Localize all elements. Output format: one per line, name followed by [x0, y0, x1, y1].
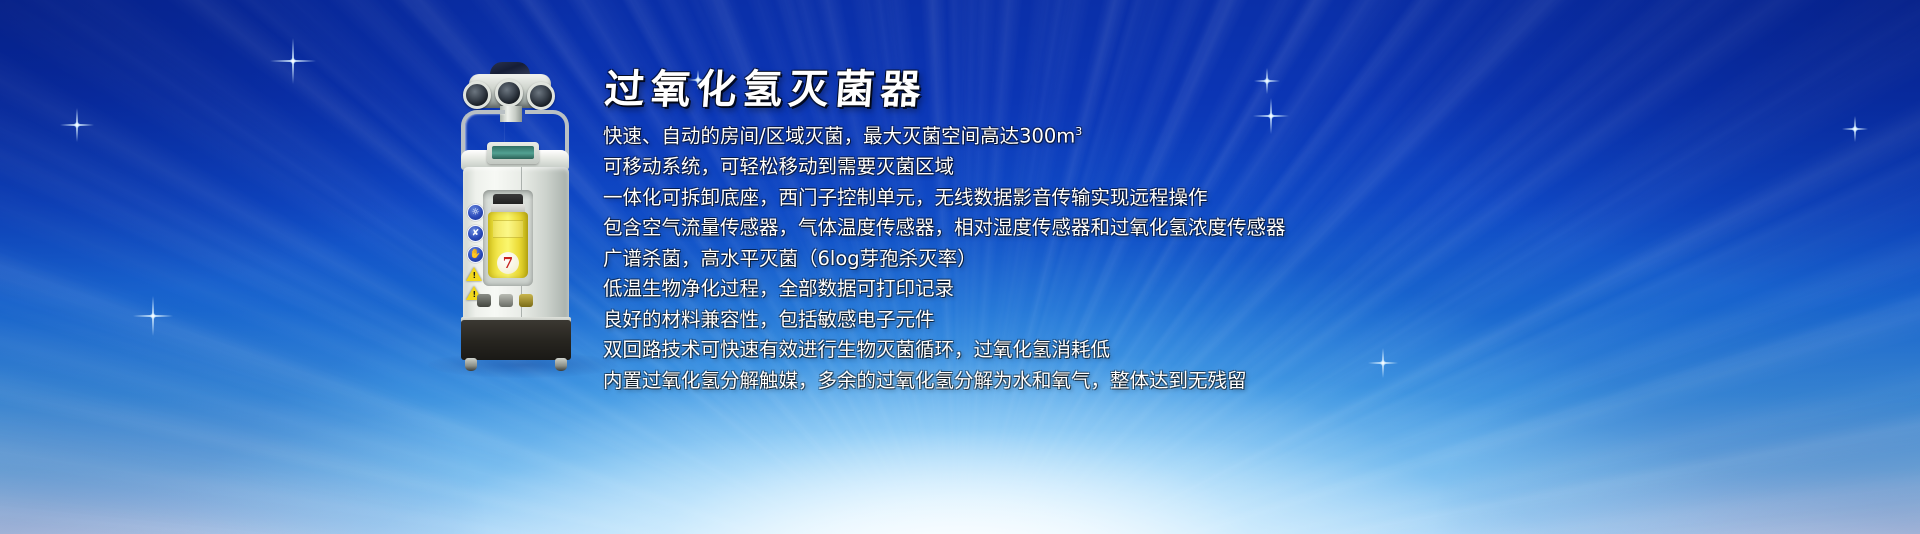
sparkle-icon — [270, 38, 316, 84]
feature-superscript: 3 — [1075, 125, 1082, 138]
goggles-warning-icon: ☼ — [467, 204, 484, 221]
no-entry-warning-icon: ✘ — [467, 225, 484, 242]
hazard-exclamation: ! — [473, 272, 476, 279]
gloves-warning-icon: ✋ — [467, 246, 484, 263]
feature-line: 低温生物净化过程，全部数据可打印记录 — [603, 279, 1883, 299]
feature-text: 广谱杀菌，高水平灭菌（6log芽孢杀灭率） — [603, 247, 977, 270]
goggles-glyph: ☼ — [468, 208, 483, 217]
feature-line: 双回路技术可快速有效进行生物灭菌循环，过氧化氢消耗低 — [603, 340, 1883, 360]
gloves-glyph: ✋ — [468, 250, 483, 259]
product-image-sterilizer: 7 ☼ ✘ ✋ ! ! — [443, 62, 603, 374]
banner-copy: 过氧化氢灭菌器 快速、自动的房间/区域灭菌，最大灭菌空间高达300m3 可移动系… — [603, 68, 1883, 401]
feature-text: 快速、自动的房间/区域灭菌，最大灭菌空间高达300m — [603, 125, 1075, 148]
feature-line: 一体化可拆卸底座，西门子控制单元，无线数据影音传输实现远程操作 — [603, 188, 1883, 208]
no-entry-glyph: ✘ — [468, 229, 483, 238]
feature-line: 内置过氧化氢分解触媒，多余的过氧化氢分解为水和氧气，整体达到无残留 — [603, 371, 1883, 391]
product-nozzle-center — [495, 79, 523, 107]
sparkle-ray-horizontal — [270, 60, 316, 62]
feature-text: 内置过氧化氢分解触媒，多余的过氧化氢分解为水和氧气，整体达到无残留 — [603, 369, 1247, 392]
sparkle-ray-vertical — [292, 38, 294, 84]
feature-text: 良好的材料兼容性，包括敏感电子元件 — [603, 308, 935, 331]
sparkle-ray-vertical — [152, 296, 154, 336]
product-caster-right — [555, 358, 567, 371]
feature-text: 双回路技术可快速有效进行生物灭菌循环，过氧化氢消耗低 — [603, 338, 1110, 361]
product-base — [461, 320, 571, 360]
sparkle-core — [74, 122, 80, 128]
feature-text: 可移动系统，可轻松移动到需要灭菌区域 — [603, 155, 954, 178]
product-nozzle-left — [463, 81, 491, 109]
sparkle-ray-horizontal — [133, 315, 173, 317]
product-port-3 — [519, 294, 533, 307]
sparkle-core — [150, 313, 156, 319]
product-nozzle-right — [527, 82, 555, 110]
product-port-1 — [477, 294, 491, 307]
feature-text: 低温生物净化过程，全部数据可打印记录 — [603, 277, 954, 300]
feature-line: 包含空气流量传感器，气体温度传感器，相对湿度传感器和过氧化氢浓度传感器 — [603, 218, 1883, 238]
hazard-triangle-icon-1: ! — [466, 267, 482, 281]
product-caster-left — [465, 358, 477, 371]
product-port-2 — [499, 294, 513, 307]
sparkle-ray-horizontal — [60, 124, 94, 126]
feature-line: 良好的材料兼容性，包括敏感电子元件 — [603, 310, 1883, 330]
product-port-panel — [477, 294, 539, 310]
sparkle-icon — [133, 296, 173, 336]
feature-line: 快速、自动的房间/区域灭菌，最大灭菌空间高达300m3 — [603, 126, 1883, 146]
product-banner: 7 ☼ ✘ ✋ ! ! 过氧化氢灭菌器 快速、自动的房间/区域灭菌，最大灭菌空间… — [0, 0, 1920, 534]
product-control-screen — [492, 146, 534, 159]
sparkle-icon — [60, 108, 94, 142]
sparkle-core — [290, 58, 296, 64]
feature-text: 包含空气流量传感器，气体温度传感器，相对湿度传感器和过氧化氢浓度传感器 — [603, 216, 1286, 239]
bottle-number-badge: 7 — [497, 252, 519, 274]
hazard-exclamation: ! — [473, 291, 476, 298]
feature-text: 一体化可拆卸底座，西门子控制单元，无线数据影音传输实现远程操作 — [603, 186, 1208, 209]
feature-line: 可移动系统，可轻松移动到需要灭菌区域 — [603, 157, 1883, 177]
page-title: 过氧化氢灭菌器 — [603, 68, 928, 112]
sparkle-ray-vertical — [76, 108, 78, 142]
product-bottle-label — [493, 220, 523, 238]
feature-line: 广谱杀菌，高水平灭菌（6log芽孢杀灭率） — [603, 249, 1883, 269]
